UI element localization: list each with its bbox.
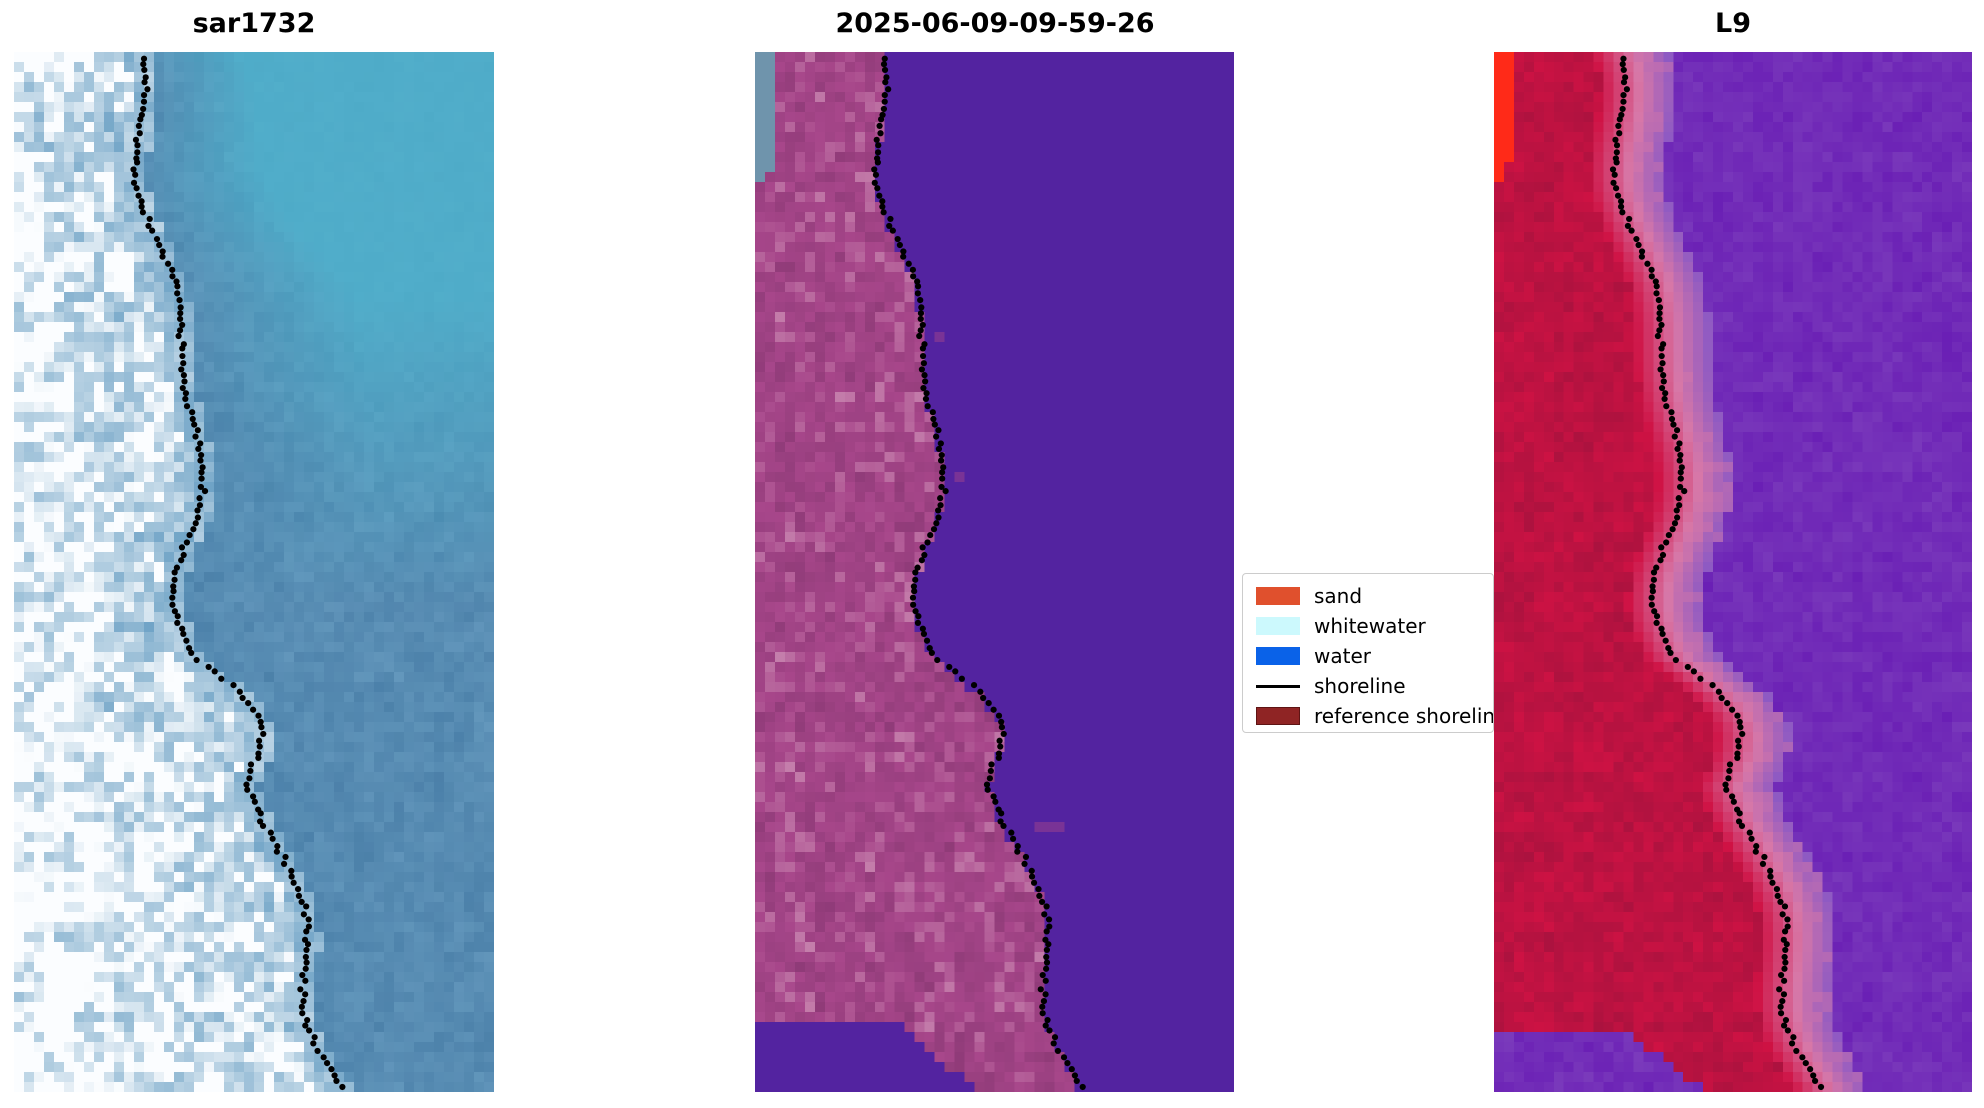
- legend-label: shoreline: [1314, 676, 1406, 696]
- legend-item-reference-shoreline[interactable]: reference shoreline: [1243, 701, 1493, 731]
- legend-swatch-water-icon: [1256, 647, 1300, 665]
- panel-l9-image[interactable]: [1494, 52, 1972, 1092]
- panel-title-classification: 2025-06-09-09-59-26: [735, 8, 1255, 39]
- legend-swatch-reference-shoreline-icon: [1256, 707, 1300, 725]
- shoreline-overlay-classification: [755, 52, 1234, 1092]
- legend-label: sand: [1314, 586, 1362, 606]
- shoreline-overlay-l9: [1494, 52, 1972, 1092]
- legend-box[interactable]: sandwhitewaterwatershorelinereference sh…: [1242, 573, 1494, 733]
- legend-swatch-sand-icon: [1256, 587, 1300, 605]
- panel-classification-image[interactable]: [755, 52, 1234, 1092]
- legend-item-sand[interactable]: sand: [1243, 581, 1493, 611]
- figure-canvas: sar1732 2025-06-09-09-59-26 L9 sandwhite…: [0, 0, 1984, 1108]
- legend-item-whitewater[interactable]: whitewater: [1243, 611, 1493, 641]
- shoreline-overlay-sar: [14, 52, 494, 1092]
- panel-title-sar: sar1732: [14, 8, 494, 39]
- legend-label: water: [1314, 646, 1371, 666]
- legend-item-shoreline[interactable]: shoreline: [1243, 671, 1493, 701]
- panel-sar-image[interactable]: [14, 52, 494, 1092]
- legend-swatch-shoreline-icon: [1256, 685, 1300, 688]
- legend-swatch-whitewater-icon: [1256, 617, 1300, 635]
- legend-label: whitewater: [1314, 616, 1426, 636]
- legend-label: reference shoreline: [1314, 706, 1494, 726]
- legend-item-water[interactable]: water: [1243, 641, 1493, 671]
- panel-title-l9: L9: [1494, 8, 1972, 39]
